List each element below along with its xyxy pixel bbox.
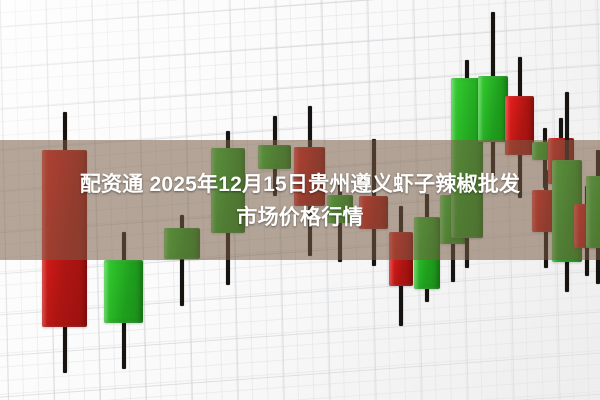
candle-body-down <box>505 96 534 155</box>
candle-body-up <box>164 228 200 259</box>
candle-body-up <box>258 145 291 169</box>
candle-body-up <box>586 176 600 248</box>
candle-body-down <box>359 196 388 229</box>
candle-body-down <box>294 147 325 206</box>
candle-body-up <box>327 195 353 223</box>
candle-body-up <box>478 76 508 142</box>
candle-body-up <box>414 217 440 289</box>
candlestick-chart-image: 配资通 2025年12月15日贵州遵义虾子辣椒批发 市场价格行情 <box>0 0 600 400</box>
candlestick-series <box>0 0 600 400</box>
candle-body-down <box>42 150 87 327</box>
candle-body-down <box>389 232 413 286</box>
candle-body-up <box>104 260 143 323</box>
candle-body-up <box>211 148 245 233</box>
